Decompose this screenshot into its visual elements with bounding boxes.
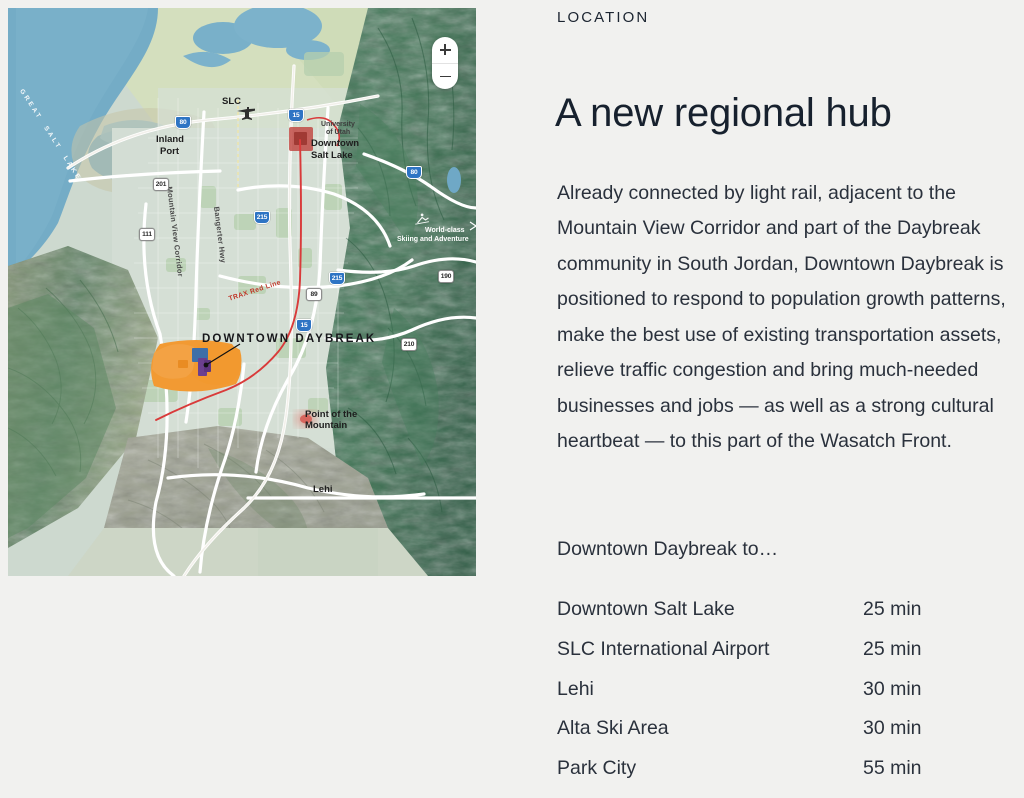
distance-time: 30 min (863, 717, 922, 740)
highway-shield-i80-east: 80 (406, 166, 422, 179)
highway-shield-i15-north: 15 (288, 109, 304, 122)
highway-shield-sr201: 201 (153, 178, 169, 191)
distance-time: 30 min (863, 678, 922, 701)
zoom-out-button[interactable] (432, 64, 458, 90)
distance-list-heading: Downtown Daybreak to… (557, 538, 778, 561)
highway-shield-i80-west: 80 (175, 116, 191, 129)
page-title: A new regional hub (555, 90, 892, 136)
distance-place: Downtown Salt Lake (557, 598, 863, 621)
location-content: LOCATION A new regional hub Already conn… (557, 0, 1024, 798)
distance-place: SLC International Airport (557, 638, 863, 661)
distance-row: Alta Ski Area30 min (557, 717, 977, 757)
highway-shield-sr190: 190 (438, 270, 454, 283)
location-section: GREAT SALT LAKE Inland Port SLC Universi… (0, 0, 1024, 798)
distance-row: SLC International Airport25 min (557, 638, 977, 678)
highway-shield-sr111: 111 (139, 228, 155, 241)
highway-shield-sr210: 210 (401, 338, 417, 351)
minus-icon (440, 71, 451, 82)
distance-table: Downtown Salt Lake25 minSLC Internationa… (557, 598, 977, 797)
distance-time: 25 min (863, 638, 922, 661)
highway-shield-us89: 89 (306, 288, 322, 301)
distance-row: Lehi30 min (557, 678, 977, 718)
section-eyebrow: LOCATION (557, 9, 649, 26)
highway-shield-i15-south: 15 (296, 319, 312, 332)
distance-time: 55 min (863, 757, 922, 780)
distance-place: Alta Ski Area (557, 717, 863, 740)
plus-icon (440, 44, 451, 55)
map-zoom-control[interactable] (432, 37, 458, 89)
section-body-text: Already connected by light rail, adjacen… (557, 176, 1024, 460)
highway-shield-i215-south: 215 (329, 272, 345, 285)
map-graphic (8, 8, 476, 576)
distance-row: Park City55 min (557, 757, 977, 797)
distance-place: Lehi (557, 678, 863, 701)
highway-shield-i215-west: 215 (254, 211, 270, 224)
distance-row: Downtown Salt Lake25 min (557, 598, 977, 638)
zoom-in-button[interactable] (432, 37, 458, 64)
distance-place: Park City (557, 757, 863, 780)
location-map[interactable]: GREAT SALT LAKE Inland Port SLC Universi… (8, 8, 476, 576)
distance-time: 25 min (863, 598, 922, 621)
